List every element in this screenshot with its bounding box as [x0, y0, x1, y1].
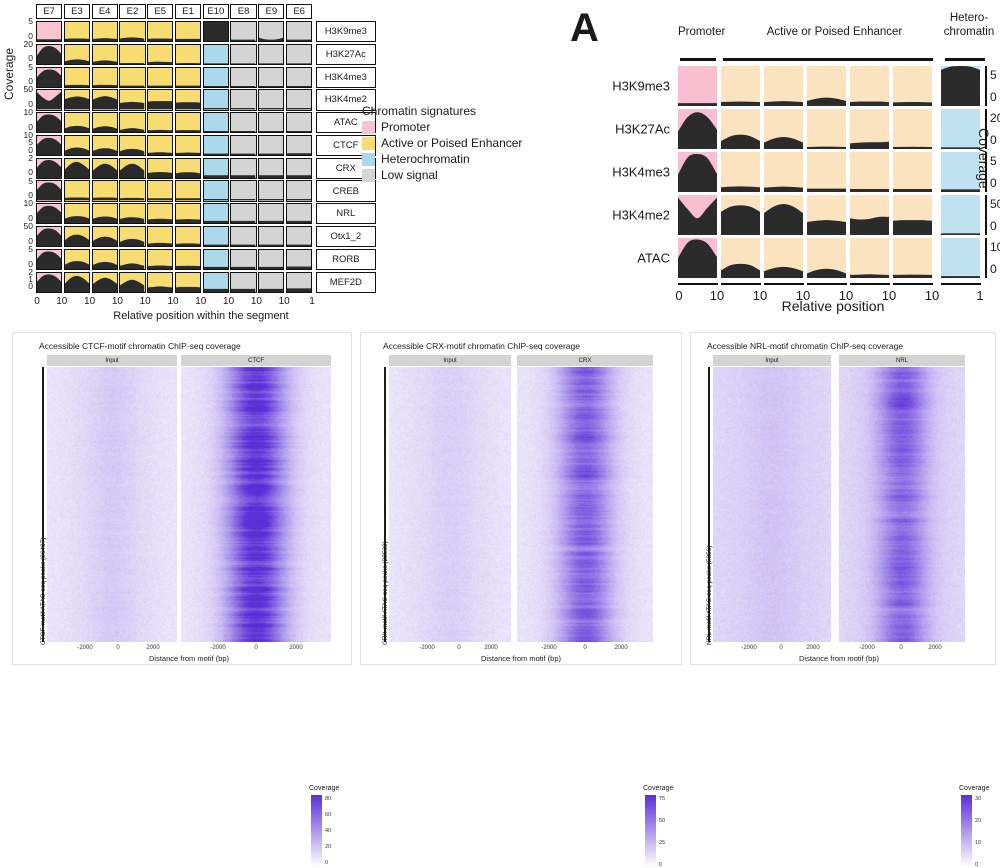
panel-b-column-headers: E7E3E4E2E5E1E10E8E9E6 — [36, 4, 376, 19]
cell-h3k27ac-e7 — [36, 44, 62, 65]
cell-ctcf-e6 — [286, 135, 312, 156]
panel-a-ytick: 0 — [990, 262, 997, 276]
heatmap-legend-title: Coverage — [309, 785, 339, 792]
cell-creb-e2 — [119, 180, 145, 201]
facet-strip-ctcf: CTCF — [181, 355, 331, 366]
cell-nrl-e7 — [36, 203, 62, 224]
panel-a-cell-h3k4me3-4 — [850, 152, 889, 192]
panel-a-y-axis-label: Coverage — [976, 128, 992, 189]
cell-mef2d-e10 — [203, 272, 229, 293]
heatmap-xtick: 0 — [899, 645, 902, 651]
panel-a-cell-h3k27ac-6 — [941, 109, 980, 149]
cell-mef2d-e8 — [230, 272, 256, 293]
panel-b-xtick: 10 — [167, 296, 178, 307]
panel-a-cell-atac-6 — [941, 238, 980, 278]
cell-otx1_2-e9 — [258, 226, 284, 247]
cell-atac-e8 — [230, 112, 256, 133]
cell-crx-e2 — [119, 158, 145, 179]
panel-b-xtick: 10 — [195, 296, 206, 307]
cell-h3k27ac-e8 — [230, 44, 256, 65]
cell-rorb-e6 — [286, 249, 312, 270]
panel-a-cell-h3k4me3-0 — [678, 152, 717, 192]
heatmap-legend-tick: 25 — [659, 840, 665, 846]
panel-b-row-atac: ATAC — [36, 112, 376, 133]
x-axis-line-4 — [807, 283, 847, 285]
panel-a-cell-h3k9me3-4 — [850, 66, 889, 106]
heatmap-x-axis-label: Distance from motif (bp) — [389, 654, 653, 663]
heatmap-legend-tick: 20 — [975, 818, 981, 824]
panel-a-cell-h3k4me3-6 — [941, 152, 980, 192]
heatmap-legend-title: Coverage — [959, 785, 989, 792]
group-label-heterochromatin-1: Hetero- — [945, 12, 993, 24]
panel-a-cell-h3k4me2-4 — [850, 195, 889, 235]
panel-a-cell-h3k9me3-2 — [764, 66, 803, 106]
heatmap-title: Accessible CRX-motif chromatin ChIP-seq … — [383, 341, 580, 351]
cell-ctcf-e4 — [92, 135, 118, 156]
column-header-e9: E9 — [258, 4, 284, 19]
heatmap-panel-crx: Accessible CRX-motif chromatin ChIP-seq … — [360, 332, 682, 665]
panel-b-xtick: 10 — [223, 296, 234, 307]
heatmap-body-input — [47, 367, 177, 642]
cell-h3k27ac-e1 — [175, 44, 201, 65]
panel-a-cell-h3k4me3-2 — [764, 152, 803, 192]
cell-rorb-e10 — [203, 249, 229, 270]
panel-a-cell-h3k9me3-5 — [893, 66, 932, 106]
cell-h3k27ac-e3 — [64, 44, 90, 65]
segment-coverage-panel: Coverage 5020050500100105020501005005021… — [0, 0, 380, 322]
facet-strip-input: Input — [713, 355, 831, 366]
panel-a-row-h3k4me2: H3K4me2 — [678, 195, 984, 235]
cell-atac-e5 — [147, 112, 173, 133]
cell-creb-e5 — [147, 180, 173, 201]
facet-strip-input: Input — [47, 355, 177, 366]
cell-nrl-e3 — [64, 203, 90, 224]
cell-otx1_2-e10 — [203, 226, 229, 247]
cell-h3k9me3-e4 — [92, 21, 118, 42]
cell-h3k9me3-e3 — [64, 21, 90, 42]
heatmap-x-axis-label: Distance from motif (bp) — [713, 654, 965, 663]
panel-a-ytick: 0 — [990, 90, 997, 104]
panel-b-xtick: 0 — [34, 296, 40, 307]
cell-crx-e7 — [36, 158, 62, 179]
cell-crx-e5 — [147, 158, 173, 179]
cell-rorb-e4 — [92, 249, 118, 270]
cell-atac-e4 — [92, 112, 118, 133]
cell-creb-e10 — [203, 180, 229, 201]
panel-a-cell-atac-4 — [850, 238, 889, 278]
panel-a-row-h3k4me3: H3K4me3 — [678, 152, 984, 192]
column-header-e5: E5 — [147, 4, 173, 19]
row-label-h3k9me3: H3K9me3 — [316, 21, 376, 42]
panel-a-cell-atac-0 — [678, 238, 717, 278]
heatmap-legend-tick: 0 — [325, 860, 328, 866]
cell-h3k27ac-e2 — [119, 44, 145, 65]
legend-item-low-signal: Low signal — [362, 167, 562, 183]
heatmap-y-axis-label: CRX-motif ATAC-seq peaks (22530) — [382, 541, 389, 645]
panel-a-row-label-h3k9me3: H3K9me3 — [612, 79, 670, 94]
heatmap-legend-tick: 0 — [975, 862, 978, 868]
heatmap-xtick: -2000 — [859, 645, 874, 651]
cell-h3k27ac-e9 — [258, 44, 284, 65]
group-label-heterochromatin-2: chromatin — [938, 26, 1000, 38]
legend-label: Active or Poised Enhancer — [381, 136, 522, 150]
panel-a-cell-h3k4me2-1 — [721, 195, 760, 235]
column-header-e2: E2 — [119, 4, 145, 19]
column-header-e1: E1 — [175, 4, 201, 19]
heatmap-panel-ctcf: Accessible CTCF-motif chromatin ChIP-seq… — [12, 332, 352, 665]
cell-h3k9me3-e7 — [36, 21, 62, 42]
cell-h3k9me3-e5 — [147, 21, 173, 42]
cell-ctcf-e2 — [119, 135, 145, 156]
heatmap-xtick: 2000 — [928, 645, 941, 651]
cell-nrl-e5 — [147, 203, 173, 224]
heatmap-xtick: -2000 — [77, 645, 92, 651]
cell-rorb-e9 — [258, 249, 284, 270]
cell-otx1_2-e8 — [230, 226, 256, 247]
panel-a-row-label-atac: ATAC — [637, 251, 670, 266]
panel-a-ytick: 0 — [990, 219, 997, 233]
heatmap-body-ctcf — [181, 367, 331, 642]
heatmap-legend-tick: 0 — [659, 862, 662, 868]
cell-h3k9me3-e2 — [119, 21, 145, 42]
panel-a-axis-line — [985, 195, 987, 235]
cell-h3k4me2-e1 — [175, 89, 201, 110]
cell-ctcf-e5 — [147, 135, 173, 156]
cell-creb-e9 — [258, 180, 284, 201]
x-axis-line-6 — [893, 283, 933, 285]
panel-b-ytick: 0 — [28, 282, 33, 290]
cell-atac-e9 — [258, 112, 284, 133]
panel-a-cell-h3k27ac-2 — [764, 109, 803, 149]
cell-h3k9me3-e6 — [286, 21, 312, 42]
cell-h3k9me3-e9 — [258, 21, 284, 42]
panel-a-cell-h3k4me2-2 — [764, 195, 803, 235]
panel-b-xtick: 10 — [56, 296, 67, 307]
heatmap-colorbar — [645, 795, 656, 867]
panel-a-ytick: 10 — [990, 240, 1000, 254]
panel-a-row-label-h3k4me2: H3K4me2 — [612, 208, 670, 223]
panel-a-grid: H3K9me3H3K27AcH3K4me3H3K4me2ATAC — [678, 66, 984, 281]
row-label-otx1_2: Otx1_2 — [316, 226, 376, 247]
panel-a-row-h3k27ac: H3K27Ac — [678, 109, 984, 149]
heatmap-x-axis-label: Distance from motif (bp) — [47, 654, 331, 663]
heatmap-xtick: 2000 — [806, 645, 819, 651]
heatmap-xtick: 0 — [116, 645, 119, 651]
panel-b-ytick: 5 — [28, 245, 33, 253]
panel-b-row-ctcf: CTCF — [36, 135, 376, 156]
cell-otx1_2-e3 — [64, 226, 90, 247]
panel-a-cell-h3k27ac-3 — [807, 109, 846, 149]
panel-a-cell-atac-1 — [721, 238, 760, 278]
panel-b-ytick: 10 — [24, 108, 33, 116]
cell-h3k27ac-e6 — [286, 44, 312, 65]
panel-b-row-creb: CREB — [36, 180, 376, 201]
cell-nrl-e10 — [203, 203, 229, 224]
panel-b-ytick: 10 — [24, 199, 33, 207]
cell-h3k4me3-e8 — [230, 67, 256, 88]
x-axis-line-2 — [721, 283, 761, 285]
legend-swatch — [362, 121, 375, 134]
cell-nrl-e1 — [175, 203, 201, 224]
panel-b-row-crx: CRX — [36, 158, 376, 179]
cell-creb-e7 — [36, 180, 62, 201]
cell-creb-e8 — [230, 180, 256, 201]
heatmap-legend-tick: 80 — [325, 796, 331, 802]
panel-b-x-axis-label: Relative position within the segment — [36, 310, 366, 322]
cell-rorb-e3 — [64, 249, 90, 270]
cell-h3k4me2-e6 — [286, 89, 312, 110]
cell-otx1_2-e7 — [36, 226, 62, 247]
column-header-e7: E7 — [36, 4, 62, 19]
heatmap-xtick: 0 — [779, 645, 782, 651]
heatmap-colorbar — [311, 795, 322, 867]
heatmap-title: Accessible CTCF-motif chromatin ChIP-seq… — [39, 341, 241, 351]
panel-a-row-label-h3k4me3: H3K4me3 — [612, 165, 670, 180]
row-label-h3k27ac: H3K27Ac — [316, 44, 376, 65]
cell-h3k4me2-e3 — [64, 89, 90, 110]
cell-h3k4me3-e3 — [64, 67, 90, 88]
column-header-e6: E6 — [286, 4, 312, 19]
row-label-creb: CREB — [316, 180, 376, 201]
cell-h3k27ac-e5 — [147, 44, 173, 65]
cell-mef2d-e1 — [175, 272, 201, 293]
panel-b-row-otx1_2: Otx1_2 — [36, 226, 376, 247]
cell-h3k4me3-e4 — [92, 67, 118, 88]
cell-nrl-e2 — [119, 203, 145, 224]
panel-a-cell-h3k27ac-5 — [893, 109, 932, 149]
cell-h3k27ac-e4 — [92, 44, 118, 65]
cell-mef2d-e6 — [286, 272, 312, 293]
panel-a-cell-h3k9me3-6 — [941, 66, 980, 106]
heatmap-xtick: 0 — [583, 645, 586, 651]
group-bar-heterochromatin — [945, 58, 985, 61]
heatmap-xtick: -2000 — [210, 645, 225, 651]
group-bar-promoter — [680, 58, 716, 61]
panel-a-axis-line — [985, 66, 987, 106]
panel-b-xtick: 10 — [84, 296, 95, 307]
facet-strip-nrl: NRL — [839, 355, 965, 366]
x-axis-line-5 — [850, 283, 890, 285]
cell-mef2d-e9 — [258, 272, 284, 293]
heatmap-legend-tick: 20 — [325, 844, 331, 850]
legend-item-heterochromatin: Heterochromatin — [362, 151, 562, 167]
cell-crx-e4 — [92, 158, 118, 179]
cell-rorb-e7 — [36, 249, 62, 270]
cell-creb-e4 — [92, 180, 118, 201]
cell-mef2d-e2 — [119, 272, 145, 293]
cell-mef2d-e3 — [64, 272, 90, 293]
cell-nrl-e6 — [286, 203, 312, 224]
panel-a-cell-h3k4me2-6 — [941, 195, 980, 235]
legend-swatch — [362, 137, 375, 150]
panel-b-xtick: 10 — [112, 296, 123, 307]
cell-creb-e1 — [175, 180, 201, 201]
group-bar-enhancer — [723, 58, 933, 61]
cell-mef2d-e5 — [147, 272, 173, 293]
panel-a-ytick: 20 — [990, 111, 1000, 125]
heatmap-body-input — [389, 367, 511, 642]
cell-ctcf-e9 — [258, 135, 284, 156]
cell-h3k4me3-e7 — [36, 67, 62, 88]
panel-a-ytick: 5 — [990, 68, 997, 82]
heatmap-y-axis-label: NRL-motif ATAC-seq peaks (5856) — [706, 546, 713, 645]
heatmap-xtick: 2000 — [146, 645, 159, 651]
cell-h3k27ac-e10 — [203, 44, 229, 65]
cell-h3k9me3-e1 — [175, 21, 201, 42]
heatmap-xtick: -2000 — [419, 645, 434, 651]
cell-h3k4me3-e10 — [203, 67, 229, 88]
legend-swatch — [362, 153, 375, 166]
cell-ctcf-e7 — [36, 135, 62, 156]
cell-nrl-e9 — [258, 203, 284, 224]
heatmap-body-nrl — [839, 367, 965, 642]
cell-atac-e1 — [175, 112, 201, 133]
panel-a-cell-h3k4me2-0 — [678, 195, 717, 235]
cell-nrl-e4 — [92, 203, 118, 224]
cell-ctcf-e10 — [203, 135, 229, 156]
cell-nrl-e8 — [230, 203, 256, 224]
legend-swatch — [362, 169, 375, 182]
cell-ctcf-e3 — [64, 135, 90, 156]
cell-mef2d-e7 — [36, 272, 62, 293]
cell-h3k4me3-e6 — [286, 67, 312, 88]
group-label-promoter: Promoter — [678, 26, 719, 38]
heatmap-body-input — [713, 367, 831, 642]
heatmap-panel-nrl: Accessible NRL-motif chromatin ChIP-seq … — [690, 332, 996, 665]
cell-rorb-e2 — [119, 249, 145, 270]
panel-b-ytick: 20 — [24, 40, 33, 48]
panel-b-ytick: 50 — [24, 222, 33, 230]
panel-a-row-label-h3k27ac: H3K27Ac — [615, 122, 670, 137]
cell-h3k4me2-e9 — [258, 89, 284, 110]
heatmap-body-crx — [517, 367, 653, 642]
cell-h3k9me3-e10 — [203, 21, 229, 42]
row-label-rorb: RORB — [316, 249, 376, 270]
panel-a-letter: A — [570, 8, 599, 48]
cell-ctcf-e8 — [230, 135, 256, 156]
panel-a-cell-atac-2 — [764, 238, 803, 278]
facet-strip-input: Input — [389, 355, 511, 366]
heatmap-xtick: 0 — [254, 645, 257, 651]
panel-a-cell-h3k27ac-0 — [678, 109, 717, 149]
panel-b-xtick: 10 — [251, 296, 262, 307]
panel-a-cell-h3k4me3-1 — [721, 152, 760, 192]
legend-label: Promoter — [381, 120, 430, 134]
facet-strip-crx: CRX — [517, 355, 653, 366]
legend-item-promoter: Promoter — [362, 119, 562, 135]
cell-atac-e7 — [36, 112, 62, 133]
column-header-e8: E8 — [230, 4, 256, 19]
cell-otx1_2-e2 — [119, 226, 145, 247]
panel-a-row-atac: ATAC — [678, 238, 984, 278]
heatmap-legend-title: Coverage — [643, 785, 673, 792]
chromatin-signature-legend: Chromatin signatures PromoterActive or P… — [362, 104, 562, 183]
panel-b-row-h3k27ac: H3K27Ac — [36, 44, 376, 65]
cell-h3k4me3-e9 — [258, 67, 284, 88]
panel-b-y-ticks: 50200505001001050205010050050210 — [0, 0, 34, 322]
panel-b-row-h3k4me3: H3K4me3 — [36, 67, 376, 88]
cell-crx-e1 — [175, 158, 201, 179]
group-label-enhancer: Active or Poised Enhancer — [725, 26, 944, 38]
legend-label: Heterochromatin — [381, 152, 470, 166]
cell-h3k4me2-e5 — [147, 89, 173, 110]
cell-atac-e6 — [286, 112, 312, 133]
panel-b-row-h3k4me2: H3K4me2 — [36, 89, 376, 110]
heatmap-xtick: -2000 — [741, 645, 756, 651]
panel-a: A Promoter Active or Poised Enhancer Het… — [560, 0, 1000, 322]
heatmap-xtick: 2000 — [289, 645, 302, 651]
panel-b-xtick: 1 — [309, 296, 315, 307]
cell-atac-e10 — [203, 112, 229, 133]
heatmap-xtick: 2000 — [484, 645, 497, 651]
cell-h3k4me3-e2 — [119, 67, 145, 88]
cell-crx-e8 — [230, 158, 256, 179]
cell-atac-e2 — [119, 112, 145, 133]
column-header-e10: E10 — [203, 4, 229, 19]
cell-rorb-e1 — [175, 249, 201, 270]
heatmap-legend-tick: 60 — [325, 812, 331, 818]
column-header-e4: E4 — [92, 4, 118, 19]
legend-items: PromoterActive or Poised EnhancerHeteroc… — [362, 119, 562, 183]
x-axis-line-7 — [941, 283, 981, 285]
row-label-h3k4me3: H3K4me3 — [316, 67, 376, 88]
cell-h3k4me2-e4 — [92, 89, 118, 110]
x-axis-line-1 — [678, 283, 718, 285]
heatmap-xtick: -2000 — [541, 645, 556, 651]
cell-creb-e3 — [64, 180, 90, 201]
panel-a-cell-h3k4me2-3 — [807, 195, 846, 235]
panel-b-row-nrl: NRL — [36, 203, 376, 224]
heatmap-legend-tick: 50 — [659, 818, 665, 824]
panel-a-row-h3k9me3: H3K9me3 — [678, 66, 984, 106]
cell-h3k4me2-e8 — [230, 89, 256, 110]
row-label-nrl: NRL — [316, 203, 376, 224]
heatmap-xtick: 0 — [457, 645, 460, 651]
legend-item-active-or-poised-enhancer: Active or Poised Enhancer — [362, 135, 562, 151]
panel-a-cell-atac-5 — [893, 238, 932, 278]
cell-otx1_2-e6 — [286, 226, 312, 247]
heatmap-legend-tick: 75 — [659, 796, 665, 802]
panel-b-ytick: 5 — [28, 177, 33, 185]
panel-a-cell-h3k9me3-3 — [807, 66, 846, 106]
cell-rorb-e5 — [147, 249, 173, 270]
panel-a-cell-h3k27ac-4 — [850, 109, 889, 149]
panel-a-ytick: 50 — [990, 197, 1000, 211]
panel-b-grid: E7E3E4E2E5E1E10E8E9E6H3K9me3H3K27AcH3K4m… — [36, 4, 376, 294]
cell-crx-e9 — [258, 158, 284, 179]
cell-otx1_2-e1 — [175, 226, 201, 247]
panel-b-ytick: 5 — [28, 17, 33, 25]
heatmap-colorbar — [961, 795, 972, 867]
panel-a-x-axis-label: Relative position — [678, 298, 988, 314]
cell-ctcf-e1 — [175, 135, 201, 156]
panel-a-cell-h3k9me3-0 — [678, 66, 717, 106]
cell-crx-e6 — [286, 158, 312, 179]
cell-h3k4me2-e10 — [203, 89, 229, 110]
cell-crx-e3 — [64, 158, 90, 179]
panel-a-cell-atac-3 — [807, 238, 846, 278]
row-label-mef2d: MEF2D — [316, 272, 376, 293]
legend-title: Chromatin signatures — [362, 104, 562, 118]
cell-h3k4me2-e2 — [119, 89, 145, 110]
heatmap-legend-tick: 40 — [325, 828, 331, 834]
x-axis-line-3 — [764, 283, 804, 285]
panel-a-cell-h3k9me3-1 — [721, 66, 760, 106]
panel-b-ytick: 50 — [24, 85, 33, 93]
heatmap-xtick: 2000 — [614, 645, 627, 651]
cell-h3k9me3-e8 — [230, 21, 256, 42]
panel-b-xtick: 10 — [279, 296, 290, 307]
